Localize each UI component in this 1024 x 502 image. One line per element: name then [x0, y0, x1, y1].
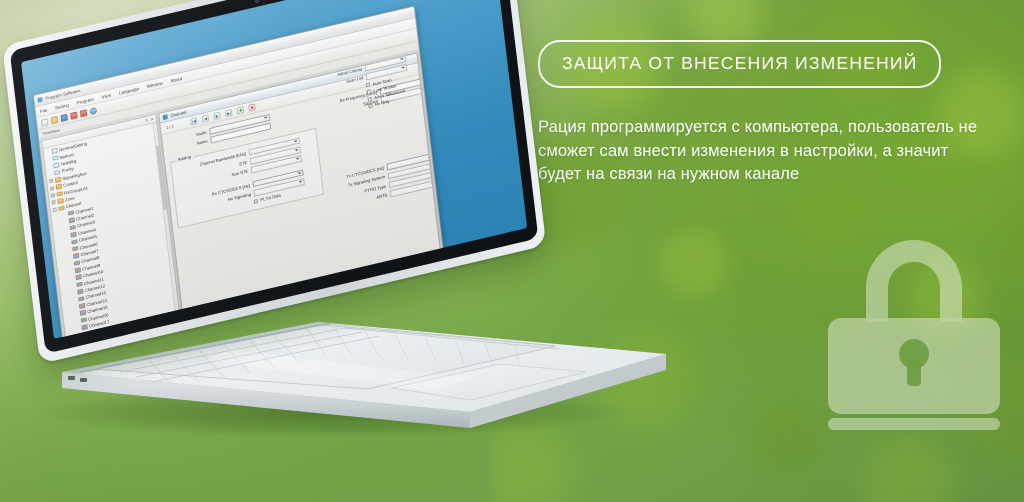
tree-node-icon — [55, 177, 61, 183]
channel-node-icon — [81, 317, 87, 323]
laptop-lid: Program Software File Setting Program Vi… — [2, 0, 546, 364]
tree-scroll-area[interactable]: GeneralSettingButtonsTextMsgPrority+Sign… — [43, 123, 178, 338]
channel-icon — [162, 114, 167, 120]
first-record-button[interactable]: |◀ — [190, 117, 198, 125]
tree-expander[interactable] — [48, 172, 52, 177]
analog-caption: Analog — [176, 154, 194, 163]
screen-bezel: Program Software File Setting Program Vi… — [10, 0, 539, 354]
channel-node-icon — [70, 225, 76, 231]
tree-expander[interactable] — [47, 157, 51, 162]
menu-item-about[interactable]: About — [170, 76, 182, 84]
webcam-icon — [255, 0, 259, 3]
menu-item-window[interactable]: Window — [146, 80, 162, 89]
tree-panel[interactable]: ⇱ ✕ GeneralSettingButtonsTextMsgPrority+… — [41, 114, 179, 339]
tree-node-icon — [57, 198, 63, 204]
tree-expander[interactable] — [46, 150, 50, 155]
channel-node-icon — [77, 289, 83, 295]
channel-node-icon — [70, 232, 76, 238]
channel-node-icon — [73, 253, 79, 259]
power-level-label: Power Level — [438, 75, 440, 89]
add-record-button[interactable]: ✚ — [237, 106, 245, 114]
tree-node-icon — [52, 155, 58, 161]
pl-for-data-checkbox[interactable] — [254, 199, 259, 204]
channel-node-icon — [69, 218, 75, 224]
program-software-window[interactable]: Program Software File Setting Program Vi… — [33, 6, 444, 339]
channel-node-icon — [81, 324, 87, 330]
channel-node-icon — [79, 303, 85, 309]
tree-node-icon — [57, 191, 63, 197]
tree-expander[interactable]: + — [49, 179, 53, 184]
save-icon[interactable] — [60, 113, 68, 121]
tot-label: TOT [s] — [439, 81, 440, 98]
checkbox-box[interactable] — [368, 96, 373, 101]
tree-expander[interactable]: + — [50, 186, 54, 191]
menu-item-program[interactable]: Program — [76, 96, 94, 105]
channel-node-icon — [74, 260, 80, 266]
padlock-icon — [826, 238, 1002, 432]
write-icon[interactable] — [80, 109, 88, 117]
next-record-button[interactable]: ▶ — [213, 112, 221, 120]
new-icon[interactable] — [41, 118, 49, 126]
channel-node-icon — [68, 210, 74, 216]
checkbox-box[interactable] — [367, 90, 372, 95]
tree-node-icon — [54, 170, 60, 176]
tree-node-icon — [58, 205, 64, 211]
tree-node-label: Channel19 — [90, 333, 111, 337]
channel-node-icon — [76, 282, 82, 288]
tree-expander[interactable] — [47, 165, 51, 170]
channel-node-icon — [82, 332, 88, 338]
tx-frequency-label: Tx Frequency [MHz] — [437, 75, 440, 80]
checkbox-label: Rx Only — [375, 99, 390, 107]
menu-item-file[interactable]: File — [40, 107, 48, 114]
menu-item-setting[interactable]: Setting — [55, 102, 70, 110]
read-icon[interactable] — [70, 111, 78, 119]
prev-record-button[interactable]: ◀ — [202, 114, 210, 122]
tree-expander[interactable]: - — [52, 207, 56, 212]
channel-node-icon — [72, 246, 78, 252]
channel-node-icon — [80, 310, 86, 316]
app-icon — [37, 97, 42, 103]
field-tot[interactable]: TOT [s] 14 — [439, 75, 440, 99]
tree-expander[interactable]: + — [52, 200, 56, 205]
tree-node-icon — [53, 163, 59, 169]
tree-node-icon — [51, 148, 57, 154]
laptop-illustration: Program Software File Setting Program Vi… — [0, 20, 700, 440]
record-pager: 1 / 1 — [166, 124, 175, 131]
checkbox-box[interactable] — [366, 83, 371, 88]
field-tx-frequency[interactable]: Tx Frequency [MHz] — [437, 75, 440, 81]
delete-record-button[interactable]: ✖ — [248, 103, 256, 111]
channel-node-icon — [71, 239, 77, 245]
tree-expander[interactable]: + — [51, 193, 55, 198]
info-icon[interactable] — [90, 106, 98, 114]
menu-item-view[interactable]: View — [101, 92, 111, 99]
tree-node-icon — [56, 184, 62, 190]
open-icon[interactable] — [51, 116, 59, 124]
channel-node-icon — [78, 296, 84, 302]
form-column-right: Tx Frequency [MHz] Power Level — [437, 75, 440, 220]
pin-icon[interactable]: ⇱ — [145, 118, 149, 124]
checkbox-box[interactable] — [368, 103, 373, 108]
screen: Program Software File Setting Program Vi… — [21, 0, 527, 339]
field-power-level[interactable]: Power Level — [438, 75, 440, 90]
close-icon[interactable]: ✕ — [150, 116, 154, 122]
last-record-button[interactable]: ▶| — [225, 109, 233, 117]
